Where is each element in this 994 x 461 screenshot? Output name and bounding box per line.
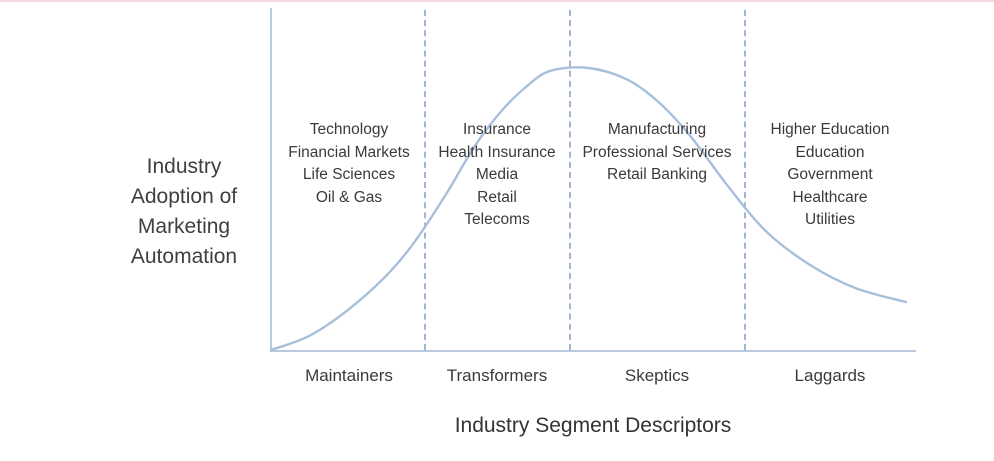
x-axis-tick-transformers: Transformers — [426, 366, 568, 386]
y-axis-label-line-1: Industry — [104, 152, 264, 182]
segment-industry-list-maintainers: Technology Financial Markets Life Scienc… — [276, 119, 422, 209]
x-axis-title: Industry Segment Descriptors — [270, 414, 916, 438]
x-axis-tick-skeptics: Skeptics — [571, 366, 743, 386]
x-axis-tick-laggards: Laggards — [746, 366, 914, 386]
industry-item: Media — [426, 164, 568, 187]
adoption-curve-chart: Industry Adoption of Marketing Automatio… — [0, 0, 994, 461]
industry-item: Utilities — [746, 209, 914, 232]
industry-item: Insurance — [426, 119, 568, 142]
industry-item: Higher Education — [746, 119, 914, 142]
industry-item: Technology — [276, 119, 422, 142]
industry-item: Healthcare — [746, 187, 914, 210]
industry-item: Manufacturing — [571, 119, 743, 142]
industry-item: Oil & Gas — [276, 187, 422, 210]
y-axis-label: Industry Adoption of Marketing Automatio… — [104, 152, 264, 272]
industry-item: Financial Markets — [276, 142, 422, 165]
y-axis-label-line-3: Marketing — [104, 212, 264, 242]
industry-item: Professional Services — [571, 142, 743, 165]
industry-item: Health Insurance — [426, 142, 568, 165]
segment-industry-list-transformers: Insurance Health Insurance Media Retail … — [426, 119, 568, 232]
industry-item: Life Sciences — [276, 164, 422, 187]
industry-item: Retail — [426, 187, 568, 210]
industry-item: Telecoms — [426, 209, 568, 232]
y-axis-label-line-2: Adoption of — [104, 182, 264, 212]
segment-industry-list-laggards: Higher Education Education Government He… — [746, 119, 914, 232]
x-axis-tick-maintainers: Maintainers — [276, 366, 422, 386]
segment-industry-list-skeptics: Manufacturing Professional Services Reta… — [571, 119, 743, 187]
y-axis-label-line-4: Automation — [104, 242, 264, 272]
industry-item: Retail Banking — [571, 164, 743, 187]
industry-item: Education — [746, 142, 914, 165]
industry-item: Government — [746, 164, 914, 187]
